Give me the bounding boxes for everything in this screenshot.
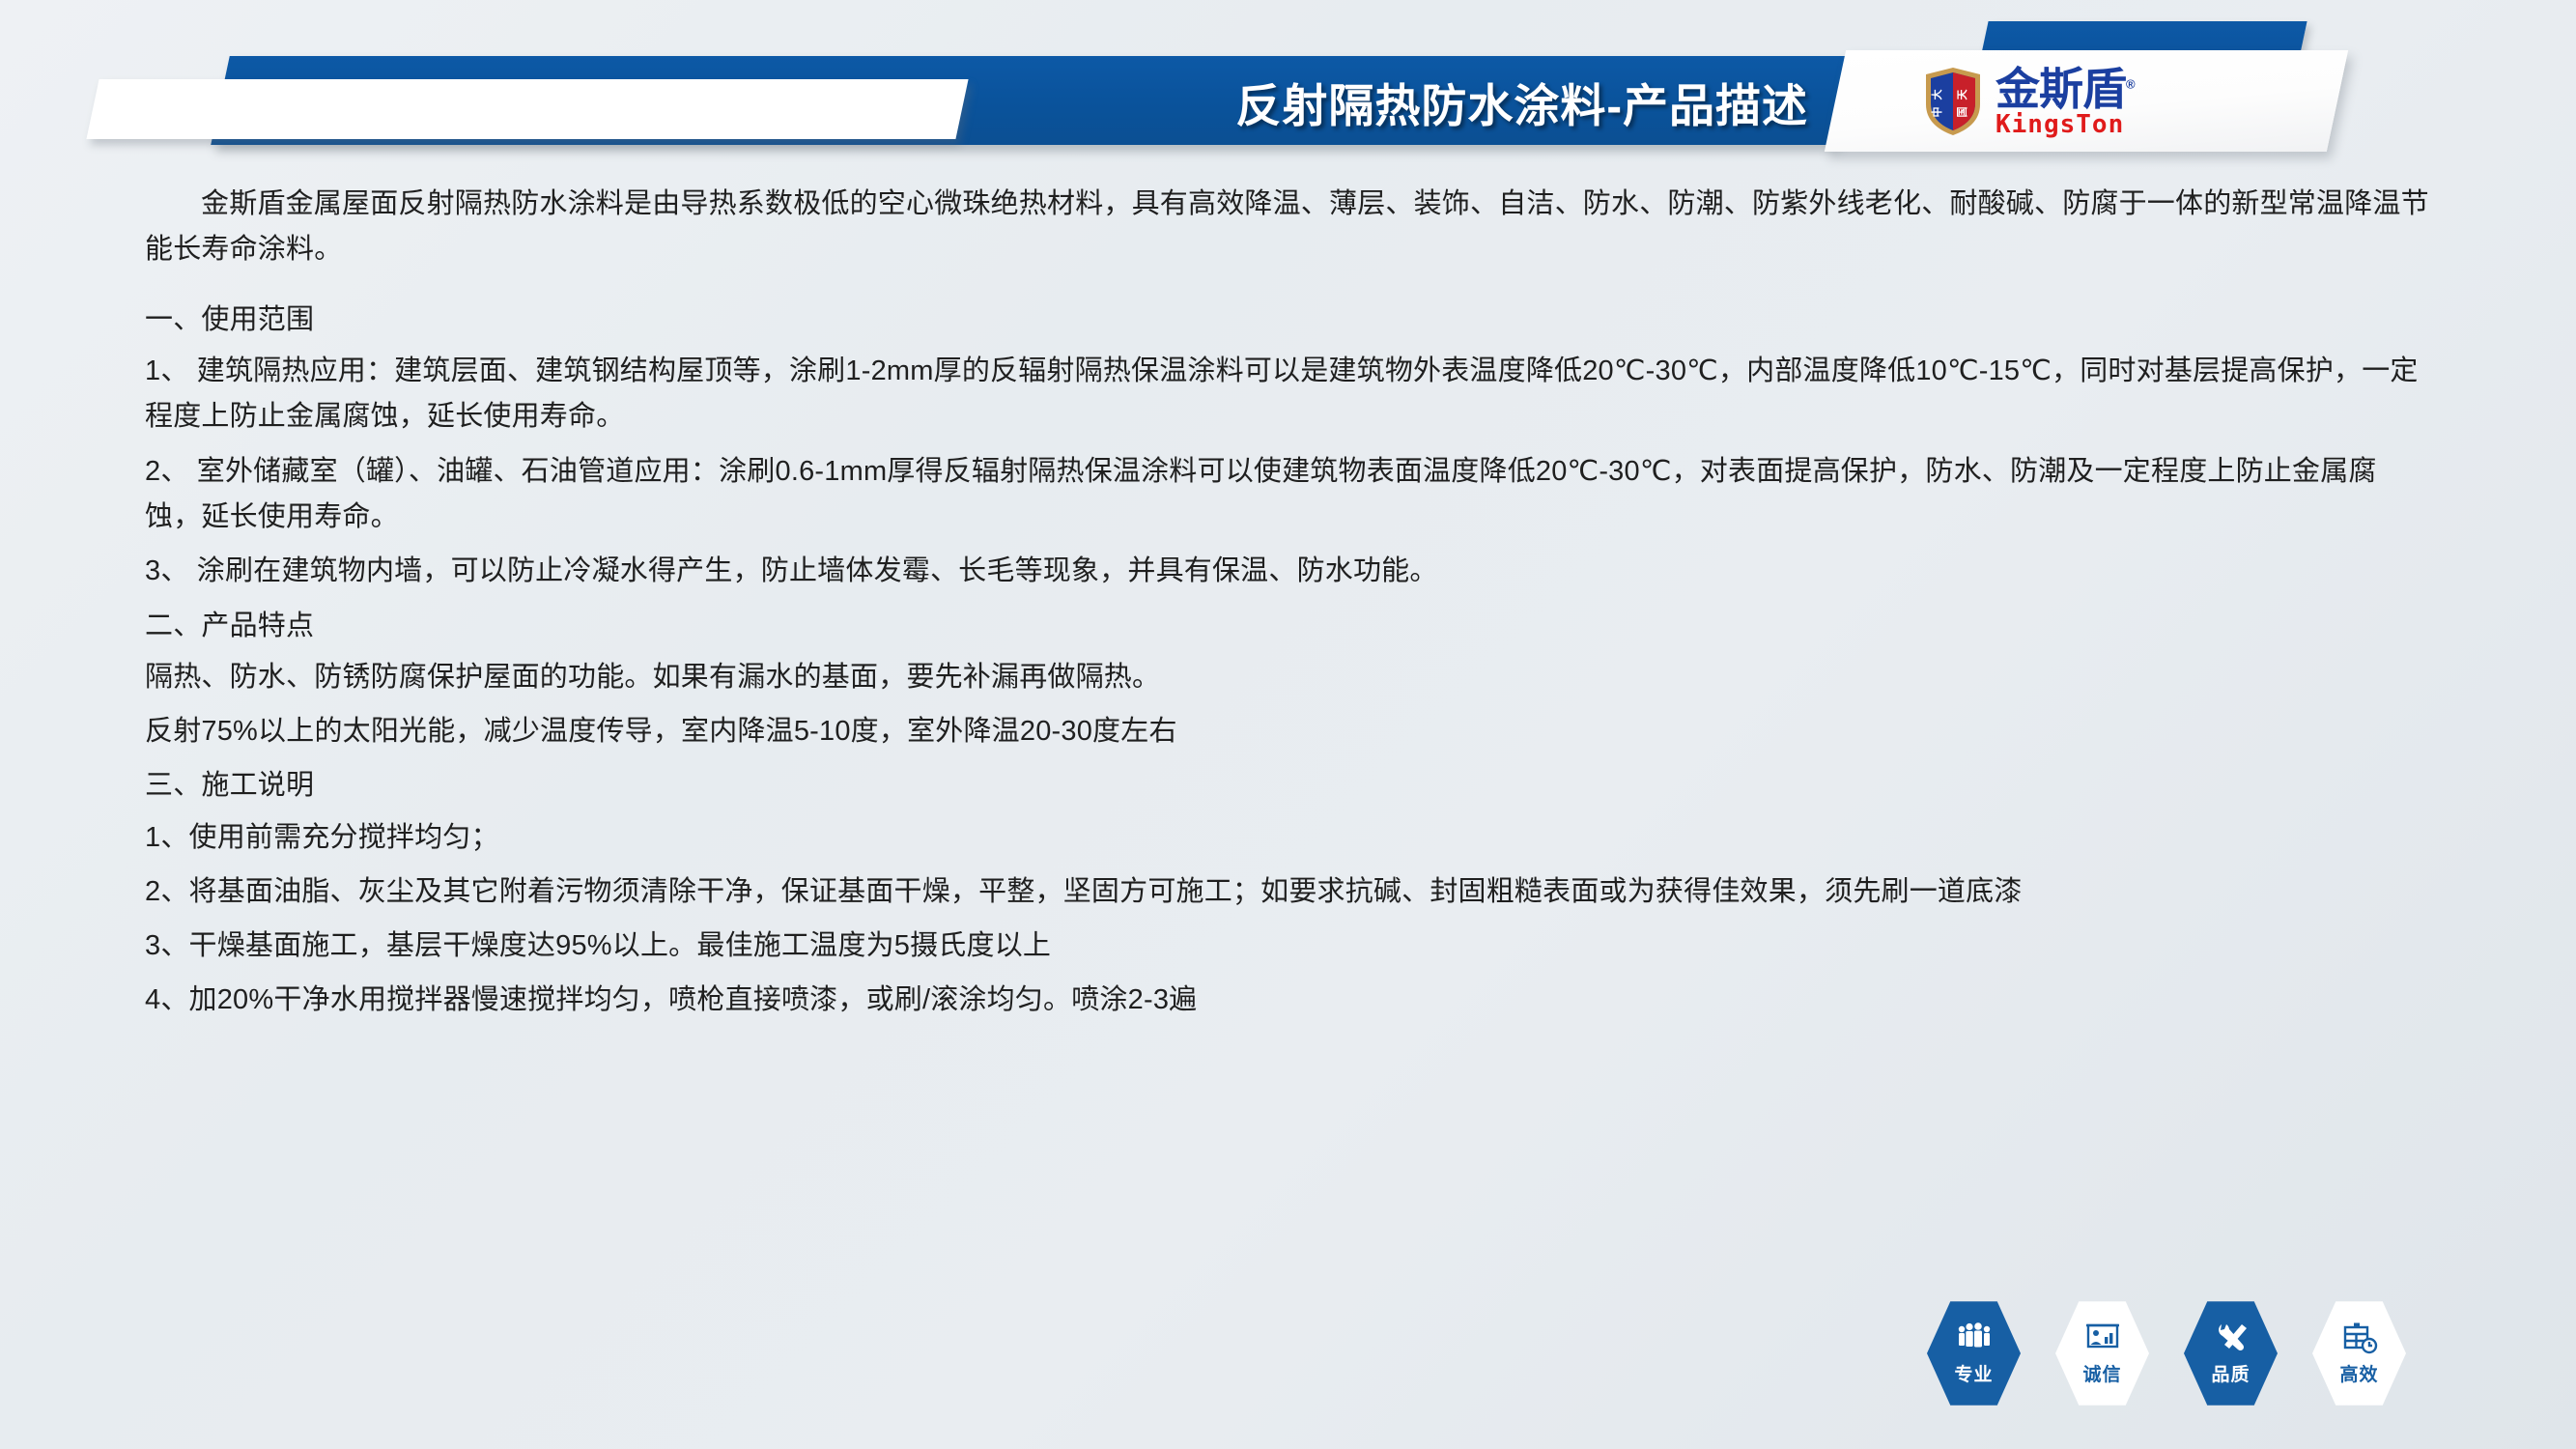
calendar-clock-icon <box>2340 1321 2379 1357</box>
section-heading-usage: 一、使用范围 <box>145 298 2431 343</box>
construction-item-2: 2、将基面油脂、灰尘及其它附着污物须清除干净，保证基面干燥，平整，坚固方可施工；… <box>145 869 2431 915</box>
people-group-icon <box>1955 1321 1994 1357</box>
document-body: 金斯盾金属屋面反射隔热防水涂料是由导热系数极低的空心微珠绝热材料，具有高效降温、… <box>0 182 2576 1033</box>
section-heading-features: 二、产品特点 <box>145 604 2431 649</box>
svg-text:中: 中 <box>1930 107 1943 118</box>
presentation-chart-icon <box>2083 1321 2122 1357</box>
badge-integrity: 诚信 <box>2055 1299 2149 1407</box>
feature-line-1: 隔热、防水、防锈防腐保护屋面的功能。如果有漏水的基面，要先补漏再做隔热。 <box>145 655 2431 700</box>
construction-item-3: 3、干燥基面施工，基层干燥度达95%以上。最佳施工温度为5摄氏度以上 <box>145 923 2431 969</box>
page-header: 反射隔热防水涂料-产品描述 大 天 中 国 金斯盾® KingsTon <box>0 0 2576 184</box>
value-badges: 专业 诚信 品质 <box>1927 1299 2468 1425</box>
shield-icon: 大 天 中 国 <box>1922 66 1984 137</box>
badge-professional: 专业 <box>1927 1299 2021 1407</box>
svg-text:国: 国 <box>1956 107 1968 118</box>
usage-item-2: 2、 室外储藏室（罐）、油罐、石油管道应用：涂刷0.6-1mm厚得反辐射隔热保温… <box>145 449 2431 541</box>
badge-label: 诚信 <box>2082 1360 2121 1386</box>
badge-label: 品质 <box>2211 1360 2250 1386</box>
badge-efficiency: 高效 <box>2312 1299 2406 1407</box>
badge-label: 高效 <box>2339 1360 2378 1386</box>
usage-item-3: 3、 涂刷在建筑物内墙，可以防止冷凝水得产生，防止墙体发霉、长毛等现象，并具有保… <box>145 549 2431 594</box>
logo-chinese-name: 金斯盾® <box>1996 67 2135 111</box>
construction-item-4: 4、加20%干净水用搅拌器慢速搅拌均匀，喷枪直接喷漆，或刷/滚涂均匀。喷涂2-3… <box>145 978 2431 1023</box>
badge-quality: 品质 <box>2184 1299 2278 1407</box>
header-white-banner <box>86 79 968 139</box>
svg-text:大: 大 <box>1930 90 1943 100</box>
logo-wordmark: 金斯盾® KingsTon <box>1996 67 2135 137</box>
construction-item-1: 1、使用前需充分搅拌均匀； <box>145 815 2431 861</box>
section-heading-construction: 三、施工说明 <box>145 763 2431 809</box>
usage-item-1: 1、 建筑隔热应用：建筑层面、建筑钢结构屋顶等，涂刷1-2mm厚的反辐射隔热保温… <box>145 349 2431 440</box>
badge-label: 专业 <box>1954 1360 1993 1386</box>
intro-paragraph: 金斯盾金属屋面反射隔热防水涂料是由导热系数极低的空心微珠绝热材料，具有高效降温、… <box>145 182 2431 272</box>
brand-logo: 大 天 中 国 金斯盾® KingsTon <box>1922 58 2308 145</box>
page-title: 反射隔热防水涂料-产品描述 <box>1005 68 1826 135</box>
logo-english-name: KingsTon <box>1996 112 2135 137</box>
registered-mark: ® <box>2126 76 2135 91</box>
feature-line-2: 反射75%以上的太阳光能，减少温度传导，室内降温5-10度，室外降温20-30度… <box>145 709 2431 754</box>
svg-text:天: 天 <box>1956 89 1968 100</box>
wrench-screwdriver-icon <box>2212 1321 2250 1357</box>
